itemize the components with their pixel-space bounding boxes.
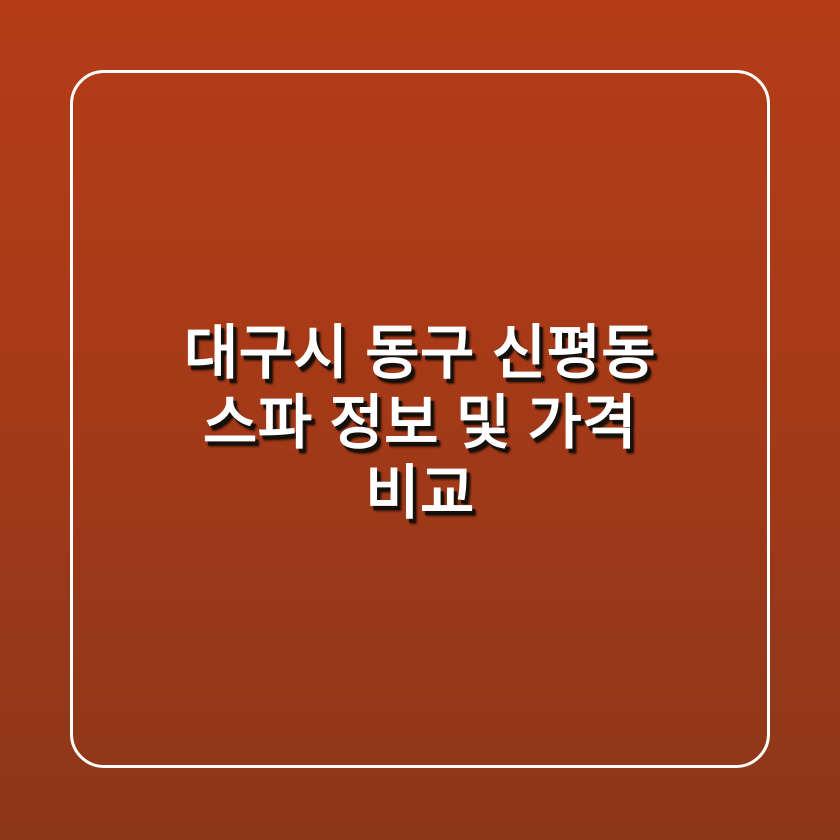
title-line-3: 비교 xyxy=(90,458,750,528)
page-title: 대구시 동구 신평동 스파 정보 및 가격 비교 xyxy=(0,318,840,528)
title-line-1: 대구시 동구 신평동 xyxy=(90,318,750,388)
title-line-2: 스파 정보 및 가격 xyxy=(90,388,750,458)
poster-canvas: 대구시 동구 신평동 스파 정보 및 가격 비교 xyxy=(0,0,840,840)
